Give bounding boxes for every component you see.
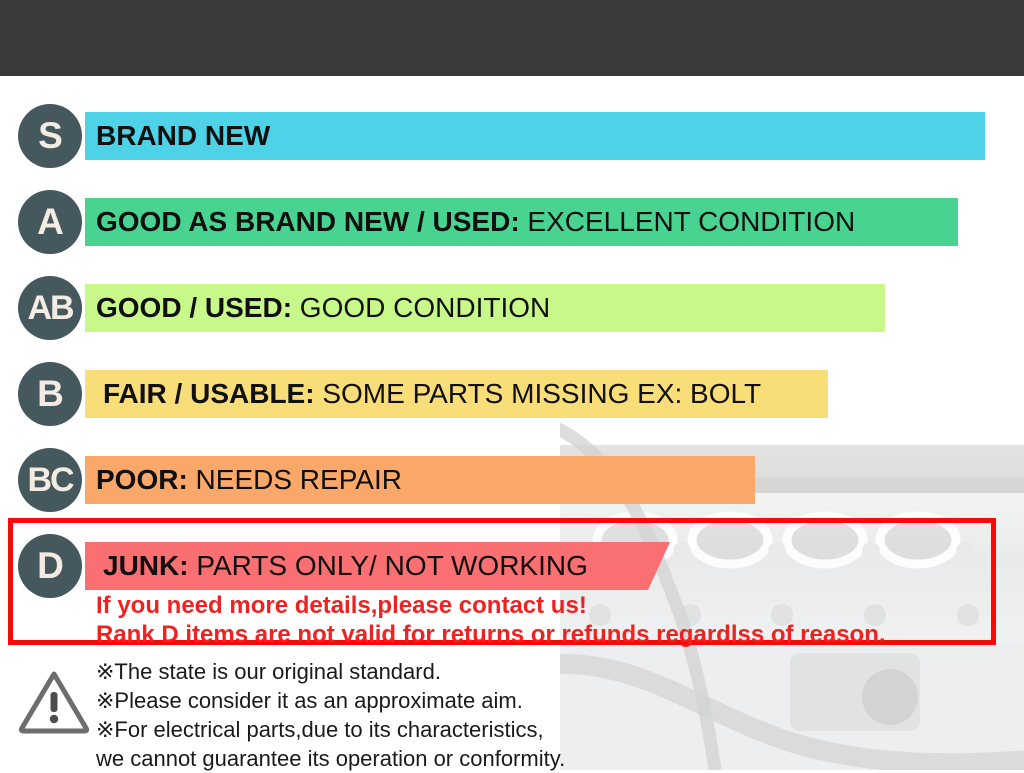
rank-label-s: BRAND NEW [96,112,270,160]
footer-note-line-1: ※The state is our original standard. [96,657,565,686]
rank-label-a-regular: EXCELLENT CONDITION [520,206,856,237]
rank-row-s: S BRAND NEW [0,94,1024,180]
rank-row-a: A GOOD AS BRAND NEW / USED: EXCELLENT CO… [0,180,1024,266]
footer-notes: ※The state is our original standard. ※Pl… [96,657,565,773]
rank-label-a: GOOD AS BRAND NEW / USED: EXCELLENT COND… [96,198,855,246]
rank-badge-d: D [18,534,82,598]
rank-label-a-bold: GOOD AS BRAND NEW / USED: [96,206,520,237]
rank-row-ab: AB GOOD / USED: GOOD CONDITION [0,266,1024,352]
footer-note-line-2: ※Please consider it as an approximate ai… [96,686,565,715]
rank-badge-b: B [18,362,82,426]
rank-d-warning-text: If you need more details,please contact … [96,591,886,649]
header-bar [0,0,1024,76]
rank-label-d: JUNK: PARTS ONLY/ NOT WORKING [103,542,588,590]
rank-label-s-bold: BRAND NEW [96,120,270,151]
rank-label-bc-regular: NEEDS REPAIR [188,464,402,495]
rank-label-ab: GOOD / USED: GOOD CONDITION [96,284,550,332]
rank-badge-ab: AB [18,276,82,340]
rank-label-d-regular: PARTS ONLY/ NOT WORKING [189,550,588,581]
rank-list: S BRAND NEW A GOOD AS BRAND NEW / USED: … [0,94,1024,610]
rank-badge-a: A [18,190,82,254]
footer-note-line-3: ※For electrical parts,due to its charact… [96,715,565,744]
rank-label-b: FAIR / USABLE: SOME PARTS MISSING EX: BO… [103,370,761,418]
rank-badge-bc: BC [18,448,82,512]
rank-label-bc: POOR: NEEDS REPAIR [96,456,402,504]
rank-label-ab-bold: GOOD / USED: [96,292,292,323]
rank-label-ab-regular: GOOD CONDITION [292,292,550,323]
rank-d-warning-line-2: Rank D items are not valid for returns o… [96,620,886,649]
warning-triangle-icon [18,668,90,734]
rank-badge-s: S [18,104,82,168]
footer-note-line-4: we cannot guarantee its operation or con… [96,744,565,773]
rank-label-b-bold: FAIR / USABLE: [103,378,315,409]
rank-row-bc: BC POOR: NEEDS REPAIR [0,438,1024,524]
rank-d-warning-line-1: If you need more details,please contact … [96,591,886,620]
rank-label-d-bold: JUNK: [103,550,189,581]
rank-row-b: B FAIR / USABLE: SOME PARTS MISSING EX: … [0,352,1024,438]
rank-label-b-regular: SOME PARTS MISSING EX: BOLT [315,378,762,409]
rank-label-bc-bold: POOR: [96,464,188,495]
